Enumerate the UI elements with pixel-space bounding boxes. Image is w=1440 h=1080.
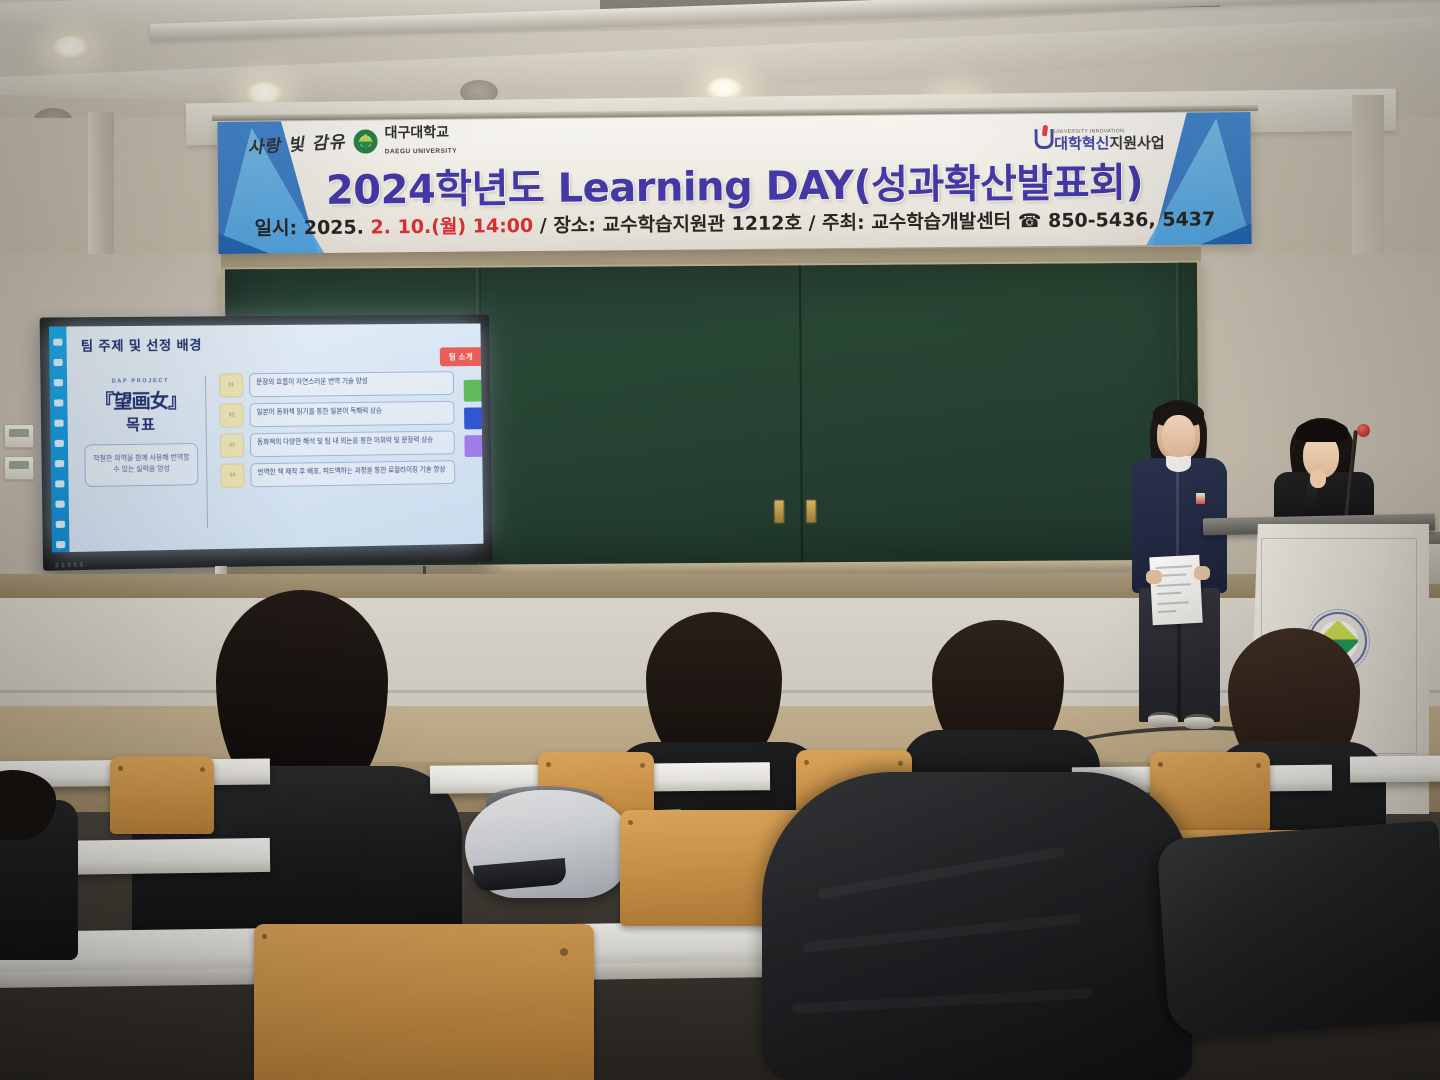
presenter-hand-right	[1194, 566, 1210, 580]
list-item: 03 동화책의 다양한 해석 및 팀 내 의논을 통한 어휘력 및 문장력 상승	[220, 430, 455, 457]
wall-control-panel[interactable]	[4, 424, 34, 448]
university-name-ko: 대구대학교	[384, 124, 449, 141]
banner-date-label: 일시:	[254, 217, 297, 239]
display-brand-logo	[55, 562, 86, 568]
presenter-shoe-left	[1148, 712, 1178, 727]
banner-host: 교수학습개발센터	[871, 210, 1011, 233]
banner-phone: 850-5436, 5437	[1048, 208, 1215, 232]
banner-date-monthday: 2. 10.(월)	[370, 216, 466, 239]
banner-university-logo: 사랑 빛 감유 대구대학교 DAEGU UNIVERSITY	[249, 125, 457, 159]
lecture-hall-scene: 사랑 빛 감유 대구대학교 DAEGU UNIVERSITY UNIVERSIT…	[0, 0, 1440, 1080]
slide-project-block: DAP PROJECT 『望画女』 목표 적절한 의역을 함께 사용해 번역할 …	[83, 378, 198, 487]
draped-black-coat	[1156, 820, 1440, 1039]
event-banner: 사랑 빛 감유 대구대학교 DAEGU UNIVERSITY UNIVERSIT…	[217, 112, 1251, 254]
project-name: 『望画女』	[84, 386, 198, 415]
innovation-u-icon	[1034, 126, 1049, 147]
chair[interactable]	[110, 756, 214, 834]
bullet-number: 01	[219, 373, 243, 397]
slide-title: 팀 주제 및 선정 배경	[81, 332, 481, 354]
slide-vertical-divider	[205, 376, 208, 529]
slide-bullet-list: 01 문장의 흐름이 자연스러운 번역 기술 양성 02 일본어 동화책 읽기를…	[219, 371, 455, 494]
list-item: 04 번역한 책 제작 후 배포, 피드백하는 과정을 통한 로컬라이징 기술 …	[220, 460, 455, 488]
bullet-text: 문장의 흐름이 자연스러운 번역 기술 양성	[249, 371, 454, 397]
program-name-en: UNIVERSITY INNOVATION	[1054, 128, 1124, 135]
presenter-script-paper	[1149, 555, 1202, 626]
wall-control-panel[interactable]	[4, 456, 34, 480]
project-goal-heading: 목표	[84, 413, 198, 436]
bullet-number: 02	[219, 403, 243, 427]
project-goal-box: 적절한 의역을 함께 사용해 번역할 수 있는 실력을 양성	[84, 443, 198, 487]
slide-section-tab[interactable]: 팀 소개	[440, 347, 481, 366]
bullet-text: 일본어 동화책 읽기를 통한 일본어 독해력 상승	[249, 401, 454, 427]
university-name-block: 대구대학교 DAEGU UNIVERSITY	[384, 125, 457, 158]
phone-icon: ☎	[1018, 210, 1042, 232]
black-puffer-jacket	[762, 772, 1192, 1080]
banner-place: 교수학습지원관 1212호	[602, 212, 802, 236]
project-label: DAP PROJECT	[83, 378, 197, 385]
presenter-face	[1162, 415, 1195, 457]
banner-host-label: 주최:	[822, 212, 865, 234]
program-name-block: UNIVERSITY INNOVATION 대학혁신지원사업	[1054, 120, 1165, 153]
banner-separator-2: /	[808, 212, 815, 234]
banner-date-year: 2025.	[304, 217, 364, 240]
blue-swatch[interactable]	[464, 407, 482, 429]
chalkboard-handle[interactable]	[806, 499, 817, 523]
display-screen: 팀 주제 및 선정 배경 팀 소개 DAP PROJECT 『望画女』 목표 적…	[49, 323, 484, 552]
chalkboard-handle[interactable]	[774, 499, 785, 523]
university-slogan: 사랑 빛 감유	[247, 127, 349, 158]
green-swatch[interactable]	[464, 380, 482, 402]
desk-row	[1350, 755, 1440, 782]
banner-time: 14:00	[473, 215, 534, 238]
university-name-en: DAEGU UNIVERSITY	[385, 148, 457, 156]
daegu-university-emblem-icon	[354, 129, 378, 153]
bullet-number: 04	[220, 463, 244, 487]
list-item: 01 문장의 흐름이 자연스러운 번역 기술 양성	[219, 371, 454, 397]
banner-place-label: 장소:	[553, 214, 596, 236]
banner-separator-1: /	[540, 215, 547, 237]
presenter-shoe-right	[1184, 714, 1214, 729]
speaker-bangs	[1296, 420, 1348, 442]
presenter-name-badge	[1196, 493, 1205, 504]
bullet-text: 번역한 책 제작 후 배포, 피드백하는 과정을 통한 로컬라이징 기술 향상	[250, 460, 455, 487]
presentation-display[interactable]: 팀 주제 및 선정 배경 팀 소개 DAP PROJECT 『望画女』 목표 적…	[40, 315, 493, 571]
presenter-hand-left	[1146, 570, 1162, 584]
list-item: 02 일본어 동화책 읽기를 통한 일본어 독해력 상승	[219, 401, 454, 428]
bullet-number: 03	[220, 433, 244, 457]
speaker-hand	[1310, 470, 1326, 488]
ceiling-downlight	[52, 36, 90, 60]
program-name-ko: 대학혁신지원사업	[1054, 135, 1165, 153]
bullet-text: 동화책의 다양한 해석 및 팀 내 의논을 통한 어휘력 및 문장력 상승	[250, 430, 455, 457]
chair-front[interactable]	[254, 924, 594, 1080]
purple-swatch[interactable]	[464, 435, 482, 457]
gooseneck-microphone-head[interactable]	[1357, 424, 1370, 437]
banner-program-logo: UNIVERSITY INNOVATION 대학혁신지원사업	[1034, 120, 1165, 153]
slide-content: 팀 주제 및 선정 배경 팀 소개 DAP PROJECT 『望画女』 목표 적…	[66, 323, 483, 552]
